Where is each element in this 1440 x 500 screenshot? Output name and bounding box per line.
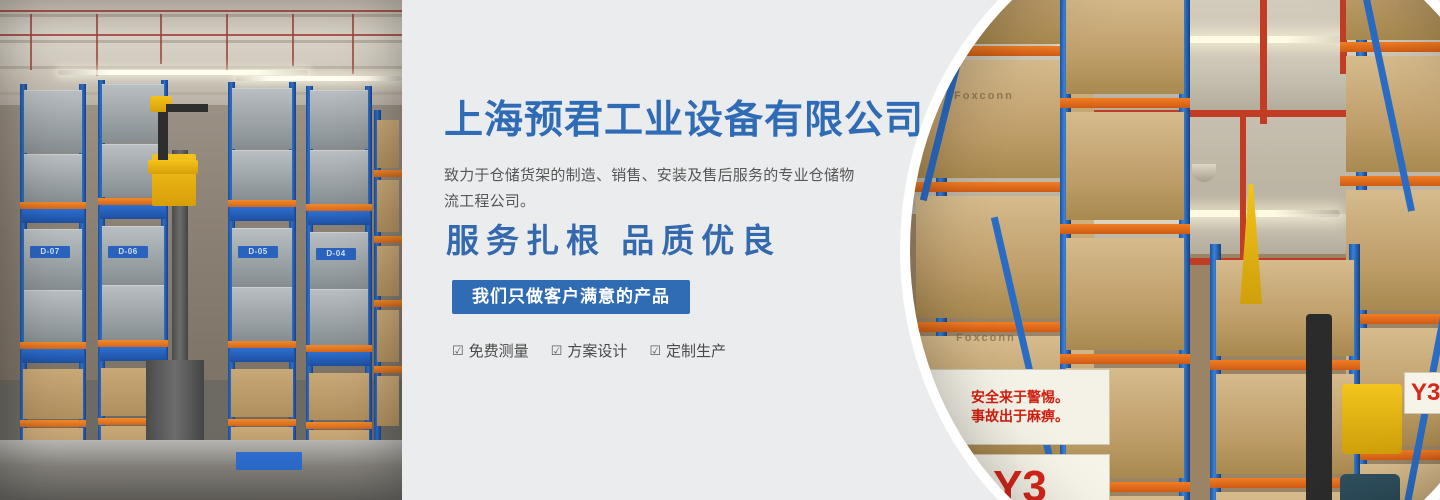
- company-subtitle: 致力于仓储货架的制造、销售、安装及售后服务的专业仓储物流工程公司。: [444, 163, 869, 215]
- feature-label: 方案设计: [567, 340, 627, 361]
- left-photo-scene: D-07 D-06: [0, 0, 402, 500]
- company-slogan: 服务扎根 品质优良: [446, 226, 781, 259]
- check-icon: ☑: [452, 344, 464, 357]
- check-icon: ☑: [649, 344, 661, 357]
- feature-item-plan-design: ☑ 方案设计: [551, 340, 628, 361]
- feature-label: 定制生产: [666, 340, 726, 361]
- photo-vignette: [910, 0, 1440, 500]
- left-warehouse-photo: D-07 D-06: [0, 0, 402, 500]
- right-photo-scene: Foxconn Foxconn Foxconn Foxconn: [910, 0, 1440, 500]
- feature-list: ☑ 免费测量 ☑ 方案设计 ☑ 定制生产: [452, 340, 726, 361]
- right-warehouse-photo: Foxconn Foxconn Foxconn Foxconn: [900, 0, 1440, 500]
- cta-button[interactable]: 我们只做客户满意的产品: [452, 280, 690, 314]
- feature-item-custom-production: ☑ 定制生产: [649, 340, 726, 361]
- edge-aisle-sign: Y3: [1404, 372, 1440, 414]
- company-title: 上海预君工业设备有限公司: [444, 101, 924, 140]
- hero-text-block: 上海预君工业设备有限公司 致力于仓储货架的制造、销售、安装及售后服务的专业仓储物…: [402, 0, 942, 500]
- check-icon: ☑: [551, 344, 563, 357]
- feature-label: 免费测量: [469, 340, 529, 361]
- hero-banner: D-07 D-06: [0, 0, 1440, 500]
- feature-item-free-measure: ☑ 免费测量: [452, 340, 529, 361]
- photo-vignette: [0, 0, 402, 500]
